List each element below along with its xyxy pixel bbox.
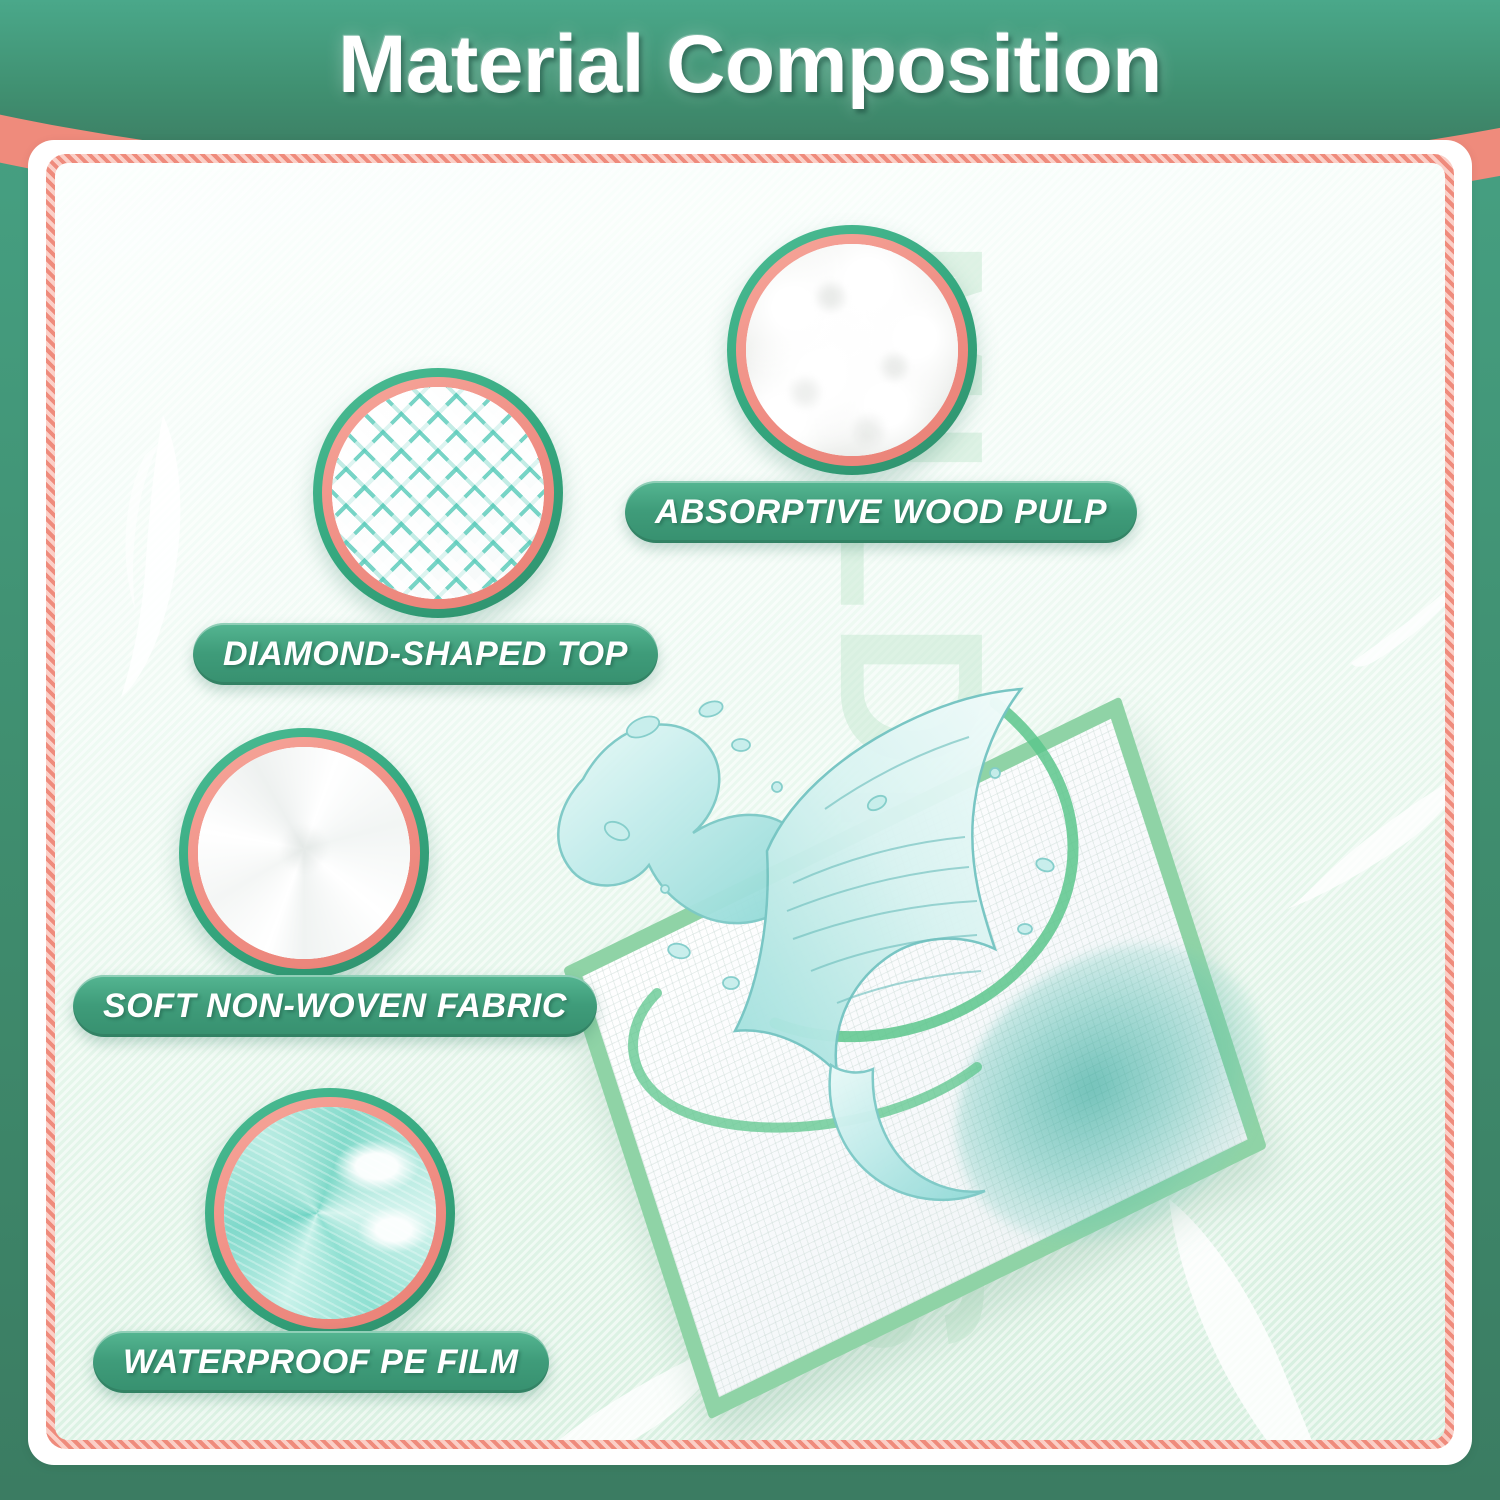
card-striped-frame: MILDPLUS xyxy=(46,154,1454,1449)
underpad-surface-texture xyxy=(582,719,1247,1397)
absorbed-liquid-spot xyxy=(920,891,1301,1295)
non-woven-fabric-swatch xyxy=(198,747,410,959)
feather-icon-right-top xyxy=(1345,543,1445,673)
swatch-diamond-shaped-top[interactable] xyxy=(313,368,563,618)
wood-pulp-fluff-swatch xyxy=(746,244,958,456)
diamond-quilted-fabric-swatch xyxy=(332,387,544,599)
pe-film-swatch xyxy=(224,1107,436,1319)
underpad-product xyxy=(563,696,1267,1419)
content-card: MILDPLUS xyxy=(28,140,1472,1465)
infographic-root: Material Composition MILDPLUS xyxy=(0,0,1500,1500)
label-soft-non-woven-fabric[interactable]: SOFT NON-WOVEN FABRIC xyxy=(73,975,597,1037)
swatch-soft-non-woven-fabric[interactable] xyxy=(179,728,429,978)
page-title: Material Composition xyxy=(0,18,1500,112)
card-inner-surface: MILDPLUS xyxy=(55,163,1445,1440)
label-waterproof-pe-film[interactable]: WATERPROOF PE FILM xyxy=(93,1331,549,1393)
swatch-absorptive-wood-pulp[interactable] xyxy=(727,225,977,475)
swatch-waterproof-pe-film[interactable] xyxy=(205,1088,455,1338)
product-pad-stage xyxy=(485,763,1445,1440)
label-absorptive-wood-pulp[interactable]: ABSORPTIVE WOOD PULP xyxy=(625,481,1137,543)
label-diamond-shaped-top[interactable]: DIAMOND-SHAPED TOP xyxy=(193,623,658,685)
